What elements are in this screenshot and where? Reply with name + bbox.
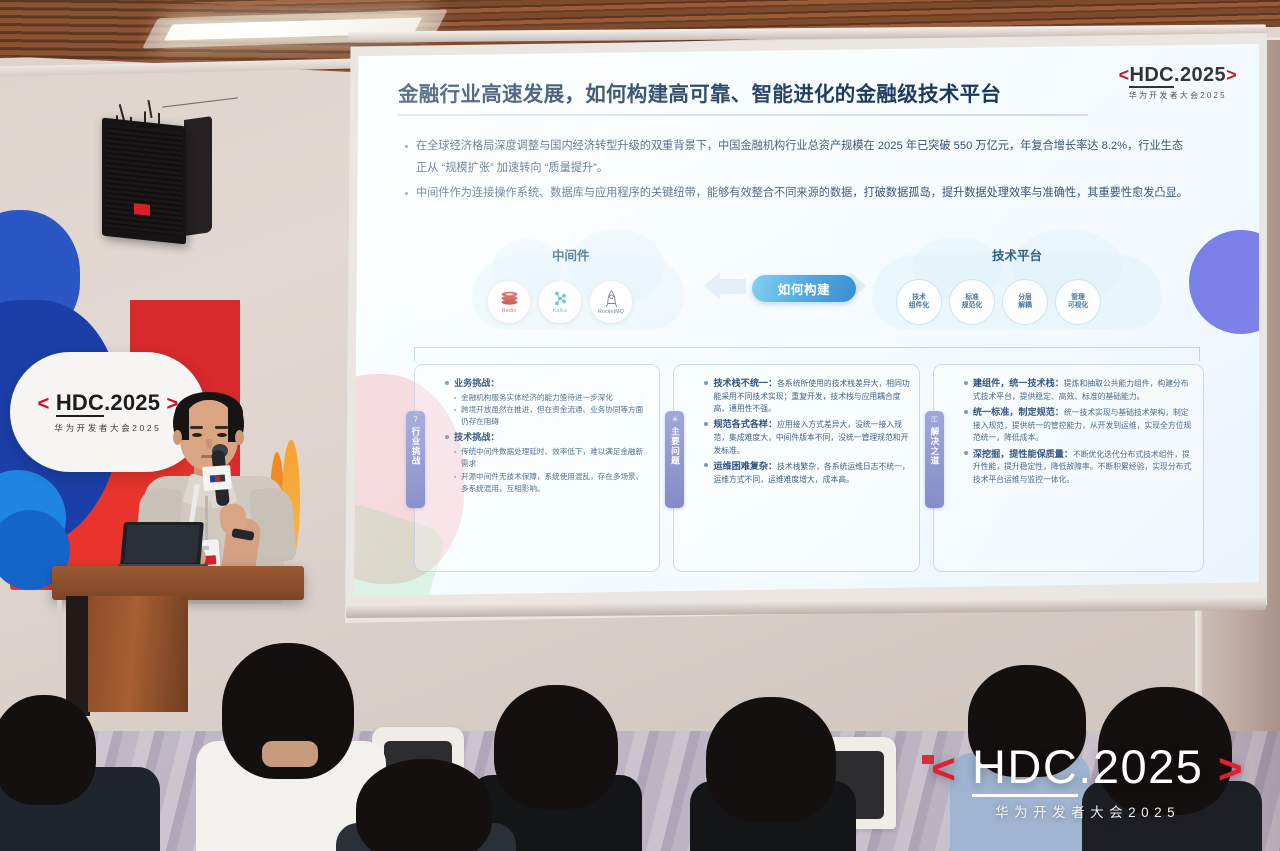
audience-head xyxy=(494,685,618,809)
panel-item-heading: 技术栈不统一： xyxy=(713,378,777,388)
kafka-label: Kafka xyxy=(553,308,567,314)
panel-item: 技术栈不统一：各系统所使用的技术栈差异大，相同功能采用不同技术实现；重复开发，技… xyxy=(704,376,909,415)
rocketmq-icon: RocketMQ xyxy=(590,281,632,323)
panel-item: 运维困难复杂：技术栈繁杂，各系统运维日志不统一，运维方式不同，运维难度增大，成本… xyxy=(704,459,909,486)
panel-item: 技术挑战： 传统中间件数据处理延时、效率低下，难以满足金融新需求 开源中间件无技… xyxy=(445,430,650,495)
panel-item-heading: 技术挑战： xyxy=(454,432,499,442)
presenter-nose xyxy=(206,439,212,449)
panel-item-heading: 建组件，统一技术栈： xyxy=(973,378,1064,388)
chevron-left-icon: < xyxy=(38,393,50,415)
panel-item-heading: 统一标准，制定规范： xyxy=(973,407,1064,417)
presenter-ear-right xyxy=(235,430,244,445)
watermark-title: < HDC.2025 > xyxy=(931,739,1244,794)
panel-main-problems: ☀ 主要问题 技术栈不统一：各系统所使用的技术栈差异大，相同功能采用不同技术实现… xyxy=(673,364,919,572)
panel-item-list: 建组件，统一技术栈：提炼和抽取公共能力组件，构建分布式技术平台，提供稳定、高效、… xyxy=(964,376,1194,486)
slide-bullet-item: 中间件作为连接操作系统、数据库与应用程序的关键纽带，能够有效整合不同来源的数据，… xyxy=(402,183,1192,205)
speaker-grille xyxy=(106,124,182,236)
panel-industry-challenges: ? 行业挑战 业务挑战： 金融机构服务实体经济的能力亟待进一步深化 跨境开放虽然… xyxy=(414,364,660,572)
panel-item: 规范各式各样：应用接入方式差异大，没统一接入规范，集成难度大，中间件版本不同，没… xyxy=(704,417,909,456)
microphone-flag xyxy=(202,465,232,491)
watermark-subtitle: 华为开发者大会2025 xyxy=(931,801,1244,821)
presenter-eyebrow-right xyxy=(215,426,228,429)
panel-item: 统一标准，制定规范：统一技术实现与基础技术架构，制定接入规范，提供统一的管控能力… xyxy=(964,405,1194,444)
hdc-watermark: < HDC.2025 > 华为开发者大会2025 xyxy=(931,739,1244,821)
key-icon: ⚿ xyxy=(931,416,937,424)
platform-bubble: 技术 组件化 xyxy=(896,279,942,325)
sun-icon: ☀ xyxy=(671,416,678,424)
audience-head xyxy=(706,697,836,823)
chevron-left-icon: < xyxy=(1119,65,1130,85)
presenter-eye-right xyxy=(217,433,227,437)
panel-item-list: 技术栈不统一：各系统所使用的技术栈差异大，相同功能采用不同技术实现；重复开发，技… xyxy=(704,376,909,486)
kafka-icon: Kafka xyxy=(539,281,581,323)
presenter-eye-left xyxy=(192,433,202,437)
panel-item: 深挖掘，提性能保质量：不断优化迭代分布式技术组件，提升性能，提升稳定性，降低故障… xyxy=(964,447,1194,486)
question-mark-icon: ? xyxy=(413,416,417,424)
middleware-icon-group: Redis Kafka xyxy=(488,281,632,323)
panel-item-heading: 运维困难复杂： xyxy=(713,461,777,471)
panel-tab-label: 主要问题 xyxy=(669,427,680,465)
panel-item-list: 业务挑战： 金融机构服务实体经济的能力亟待进一步深化 跨境开放虽然在推进，但在资… xyxy=(445,376,650,495)
chevron-right-icon: > xyxy=(1226,65,1237,85)
chevron-right-icon: > xyxy=(1218,745,1244,792)
audience-head xyxy=(356,759,492,851)
slide-panel-group: ? 行业挑战 业务挑战： 金融机构服务实体经济的能力亟待进一步深化 跨境开放虽然… xyxy=(414,364,1204,572)
pill-label: 如何构建 xyxy=(778,279,830,298)
jbl-logo-icon xyxy=(134,203,150,216)
panel-tab-main-problems: ☀ 主要问题 xyxy=(665,411,684,508)
presenter-laptop xyxy=(118,522,206,570)
panel-subitem: 跨境开放虽然在推进，但在资金流通、业务协同等方面仍存在阻碍 xyxy=(454,404,650,429)
panel-subitem-list: 传统中间件数据处理延时、效率低下，难以满足金融新需求 开源中间件无技术保障，系统… xyxy=(454,446,650,495)
presenter-eyebrow-left xyxy=(190,426,203,429)
redis-label: Redis xyxy=(502,308,516,314)
panel-tab-label: 行业挑战 xyxy=(410,427,421,465)
platform-bubble-group: 技术 组件化 标准 规范化 分层 解耦 管理 可视化 xyxy=(896,279,1101,325)
panel-item-heading: 深挖掘，提性能保质量： xyxy=(973,449,1073,459)
presentation-slide: <HDC.2025> 华为开发者大会2025 金融行业高速发展，如何构建高可靠、… xyxy=(354,44,1259,596)
rocketmq-label: RocketMQ xyxy=(598,309,624,315)
laptop-screen xyxy=(124,525,199,563)
slide-title: 金融行业高速发展，如何构建高可靠、智能进化的金融级技术平台 xyxy=(398,82,1078,108)
panel-item: 业务挑战： 金融机构服务实体经济的能力亟待进一步深化 跨境开放虽然在推进，但在资… xyxy=(445,376,650,428)
chevron-left-icon: < xyxy=(931,745,957,792)
panel-tab-solutions: ⚿ 解决之道 xyxy=(925,411,944,508)
audience-head xyxy=(0,695,96,805)
how-to-build-pill: 如何构建 xyxy=(752,275,856,302)
redis-icon: Redis xyxy=(488,281,530,323)
platform-bubble: 分层 解耦 xyxy=(1002,279,1048,325)
platform-bubble: 标准 规范化 xyxy=(949,279,995,325)
title-divider xyxy=(398,114,1088,116)
slide-bullet-item: 在全球经济格局深度调整与国内经济转型升级的双重背景下，中国金融机构行业总资产规模… xyxy=(402,136,1192,180)
panel-subitem-list: 金融机构服务实体经济的能力亟待进一步深化 跨境开放虽然在推进，但在资金流通、业务… xyxy=(454,392,650,429)
panel-subitem: 传统中间件数据处理延时、效率低下，难以满足金融新需求 xyxy=(454,446,650,471)
slide-logo-subtitle: 华为开发者大会2025 xyxy=(1119,90,1237,101)
wall-speaker xyxy=(92,96,224,246)
platform-bubble: 管理 可视化 xyxy=(1055,279,1101,325)
mic-flag-logo-icon xyxy=(209,474,224,482)
panel-solutions: ⚿ 解决之道 建组件，统一技术栈：提炼和抽取公共能力组件，构建分布式技术平台，提… xyxy=(933,364,1204,572)
middleware-platform-diagram: 中间件 技术平台 Redis xyxy=(412,249,1202,344)
platform-label: 技术平台 xyxy=(992,245,1042,264)
panel-item: 建组件，统一技术栈：提炼和抽取公共能力组件，构建分布式技术平台，提供稳定、高效、… xyxy=(964,376,1194,403)
panel-tab-label: 解决之道 xyxy=(929,427,940,465)
slide-bullet-list: 在全球经济格局深度调整与国内经济转型升级的双重背景下，中国金融机构行业总资产规模… xyxy=(402,136,1192,208)
audience-neck xyxy=(262,741,318,767)
presenter-ear-left xyxy=(173,430,182,445)
panel-item-heading: 规范各式各样： xyxy=(713,419,777,429)
panel-subitem: 金融机构服务实体经济的能力亟待进一步深化 xyxy=(454,392,650,404)
panel-subitem: 开源中间件无技术保障，系统使用混乱，存在多场景、多系统混用，互相影响。 xyxy=(454,471,650,496)
speaker-side-panel xyxy=(184,116,212,236)
panel-item-heading: 业务挑战： xyxy=(454,378,499,388)
slide-logo-title: <HDC.2025> xyxy=(1119,64,1237,87)
middleware-label: 中间件 xyxy=(552,245,590,264)
slide-hdc-logo: <HDC.2025> 华为开发者大会2025 xyxy=(1119,64,1237,101)
conference-room-scene: < HDC.2025 > 华为开发者大会2025 <HDC.2025> 华为开发… xyxy=(0,0,1280,851)
panel-tab-industry-challenges: ? 行业挑战 xyxy=(406,411,425,508)
diagram-bracket xyxy=(414,347,1200,361)
